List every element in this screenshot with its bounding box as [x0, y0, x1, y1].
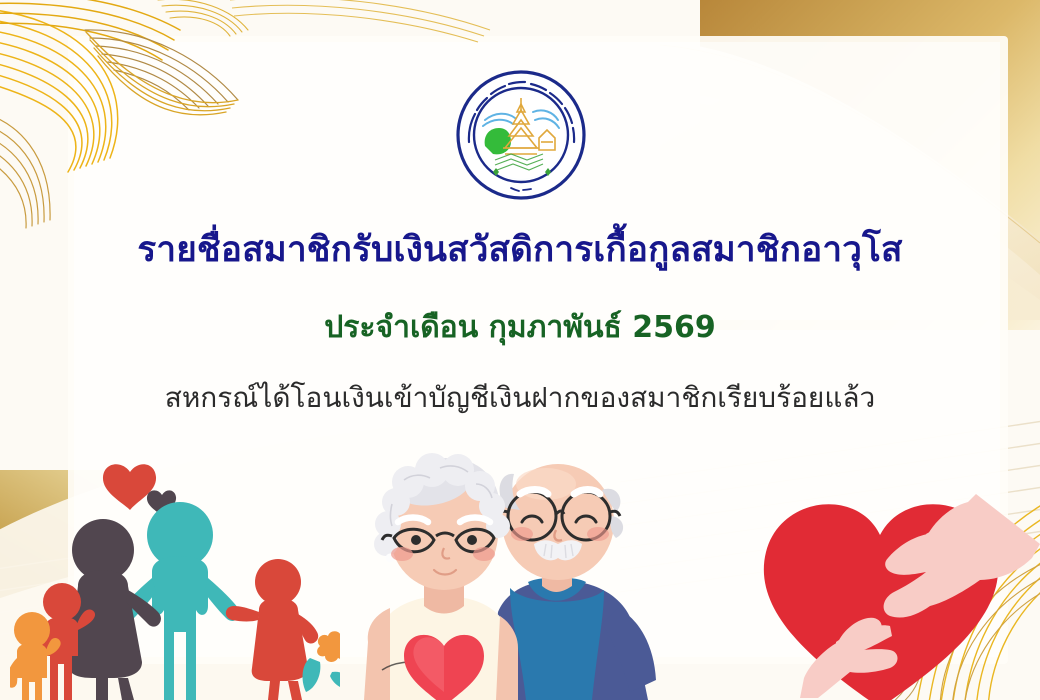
heart-red-icon	[103, 464, 156, 510]
cooperative-seal-icon	[455, 68, 587, 202]
poster-canvas: รายชื่อสมาชิกรับเงินสวัสดิการเกื้อกูลสมา…	[0, 0, 1040, 700]
page-title: รายชื่อสมาชิกรับเงินสวัสดิการเกื้อกูลสมา…	[0, 222, 1040, 277]
organization-logo	[455, 68, 587, 202]
family-silhouettes-icon	[10, 450, 340, 700]
heart-with-hands-icon	[740, 440, 1040, 700]
elderly-couple-illustration-icon	[360, 430, 670, 700]
page-subtitle: ประจำเดือน กุมภาพันธ์ 2569	[0, 304, 1040, 351]
page-note: สหกรณ์ได้โอนเงินเข้าบัญชีเงินฝากของสมาชิ…	[0, 376, 1040, 420]
elderly-woman	[364, 453, 518, 700]
